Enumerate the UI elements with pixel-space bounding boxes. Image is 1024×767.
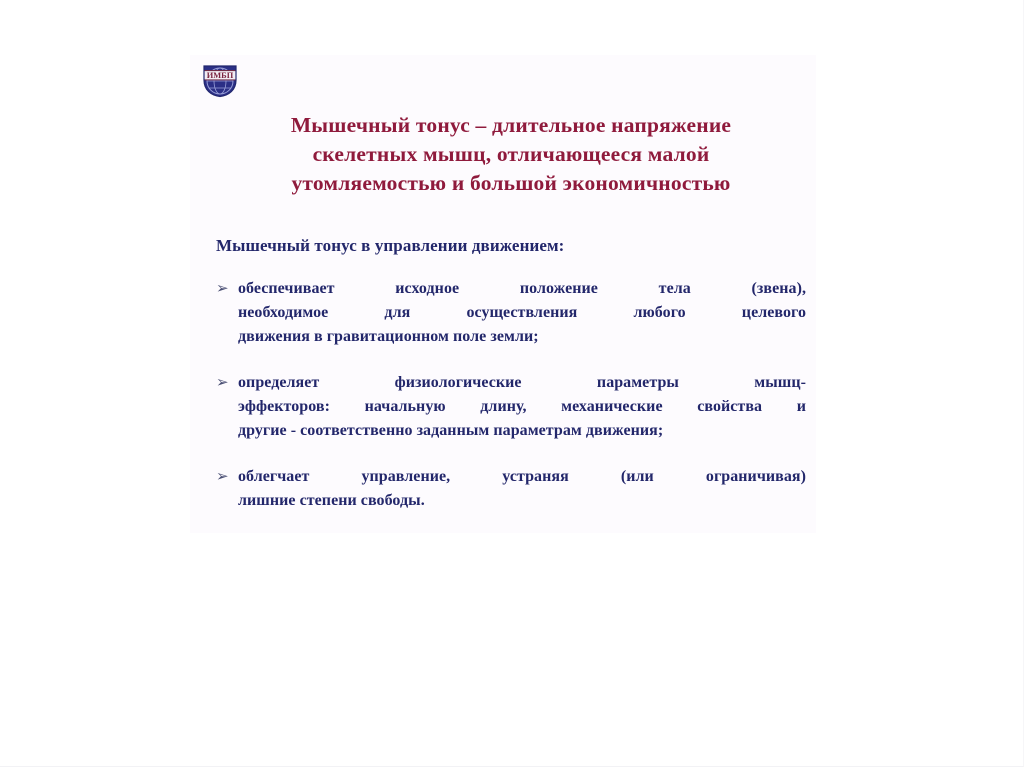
bullet-item-1: ➢ обеспечивает исходное положение тела (… — [214, 277, 806, 349]
logo-emblem-text: ИМБП — [207, 71, 234, 80]
title-line-1: Мышечный тонус – длительное напряжение — [242, 111, 780, 140]
bullet-item-1-text: обеспечивает исходное положение тела (зв… — [238, 277, 806, 349]
imbp-logo-icon: ИМБП — [200, 62, 240, 98]
bullet-item-3: ➢ облегчает управление, устраняя (или ог… — [214, 465, 806, 513]
bullet-3-line-1: облегчает управление, устраняя (или огра… — [238, 465, 806, 489]
bullet-1-line-3: движения в гравитационном поле земли; — [238, 325, 806, 349]
bullet-1-line-2: необходимое для осуществления любого цел… — [238, 301, 806, 325]
title-line-3: утомляемостью и большой экономичностью — [242, 169, 780, 198]
bullet-item-3-text: облегчает управление, устраняя (или огра… — [238, 465, 806, 513]
bullet-2-line-2: эффекторов: начальную длину, механически… — [238, 395, 806, 419]
bullet-1-line-1: обеспечивает исходное положение тела (зв… — [238, 277, 806, 301]
bullet-arrow-icon: ➢ — [214, 371, 238, 395]
bullet-2-line-3: другие - соответственно заданным парамет… — [238, 419, 806, 443]
slide-subtitle: Мышечный тонус в управлении движением: — [216, 235, 564, 257]
bullet-list: ➢ обеспечивает исходное положение тела (… — [214, 277, 806, 513]
bullet-arrow-icon: ➢ — [214, 465, 238, 489]
bullet-item-2: ➢ определяет физиологические параметры м… — [214, 371, 806, 443]
bullet-item-2-text: определяет физиологические параметры мыш… — [238, 371, 806, 443]
slide-title: Мышечный тонус – длительное напряжение с… — [242, 111, 780, 198]
bullet-arrow-icon: ➢ — [214, 277, 238, 301]
title-line-2: скелетных мышц, отличающееся малой — [242, 140, 780, 169]
slide-content-area: ИМБП Мышечный тонус – длительное напряже… — [190, 55, 816, 533]
bullet-3-line-2: лишние степени свободы. — [238, 489, 806, 513]
bullet-2-line-1: определяет физиологические параметры мыш… — [238, 371, 806, 395]
